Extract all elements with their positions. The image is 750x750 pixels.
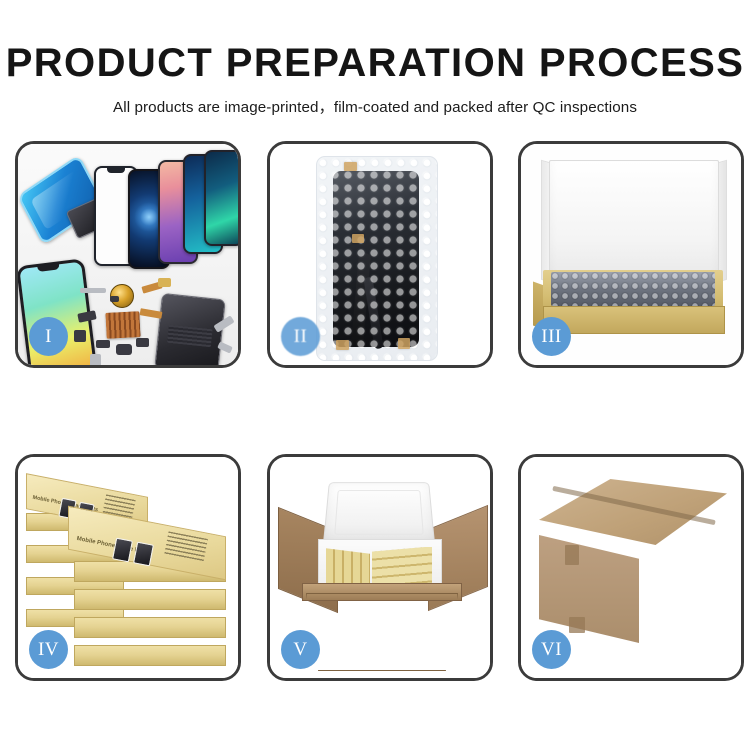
step-2-photo: II	[270, 144, 490, 365]
tape-tab	[344, 162, 357, 171]
page-header: PRODUCT PREPARATION PROCESS All products…	[0, 0, 750, 117]
kraft-tray-front	[543, 306, 725, 334]
process-step-grid: I II II	[15, 141, 745, 686]
process-step-5: V	[267, 454, 493, 681]
page-subtitle: All products are image-printed，film-coat…	[0, 84, 750, 117]
foam-lid	[323, 482, 435, 545]
step-badge-6: VI	[532, 630, 571, 669]
page-title: PRODUCT PREPARATION PROCESS	[0, 0, 750, 84]
stacked-box	[74, 589, 226, 610]
step-6-photo: VI	[521, 457, 741, 678]
bubble-wrap-sleeve	[316, 156, 438, 361]
green-swirl-phone	[204, 150, 238, 246]
step-badge-3: III	[532, 317, 571, 356]
tape-tab	[336, 340, 349, 350]
small-part	[136, 338, 149, 347]
step-badge-4: IV	[29, 630, 68, 669]
process-step-4: Mobile Phone Spare Parts Mobile Phone Sp…	[15, 454, 241, 681]
copper-chip-grid	[105, 311, 140, 339]
tape-tab	[398, 338, 410, 349]
stacked-box	[74, 645, 226, 666]
step-badge-5: V	[281, 630, 320, 669]
process-step-1: I	[15, 141, 241, 368]
small-part	[110, 296, 119, 302]
step-5-photo: V	[270, 457, 490, 678]
tape-patch	[565, 545, 579, 565]
step-badge-2: II	[281, 317, 320, 356]
stacked-box	[74, 617, 226, 638]
small-part	[96, 340, 110, 348]
step-4-photo: Mobile Phone Spare Parts Mobile Phone Sp…	[18, 457, 238, 678]
small-part	[90, 354, 101, 365]
small-part	[158, 278, 171, 287]
small-part	[80, 288, 106, 293]
small-part	[74, 330, 86, 342]
tape-patch	[569, 617, 585, 633]
step-1-photo: I	[18, 144, 238, 365]
small-part	[116, 344, 132, 355]
step-3-photo: III	[521, 144, 741, 365]
bubble-wrapped-contents	[551, 272, 715, 306]
step-badge-1: I	[29, 317, 68, 356]
process-step-3: III	[518, 141, 744, 368]
process-step-2: II	[267, 141, 493, 368]
tape-tab	[352, 234, 364, 243]
process-step-6: VI	[518, 454, 744, 681]
carton-body	[306, 593, 458, 671]
